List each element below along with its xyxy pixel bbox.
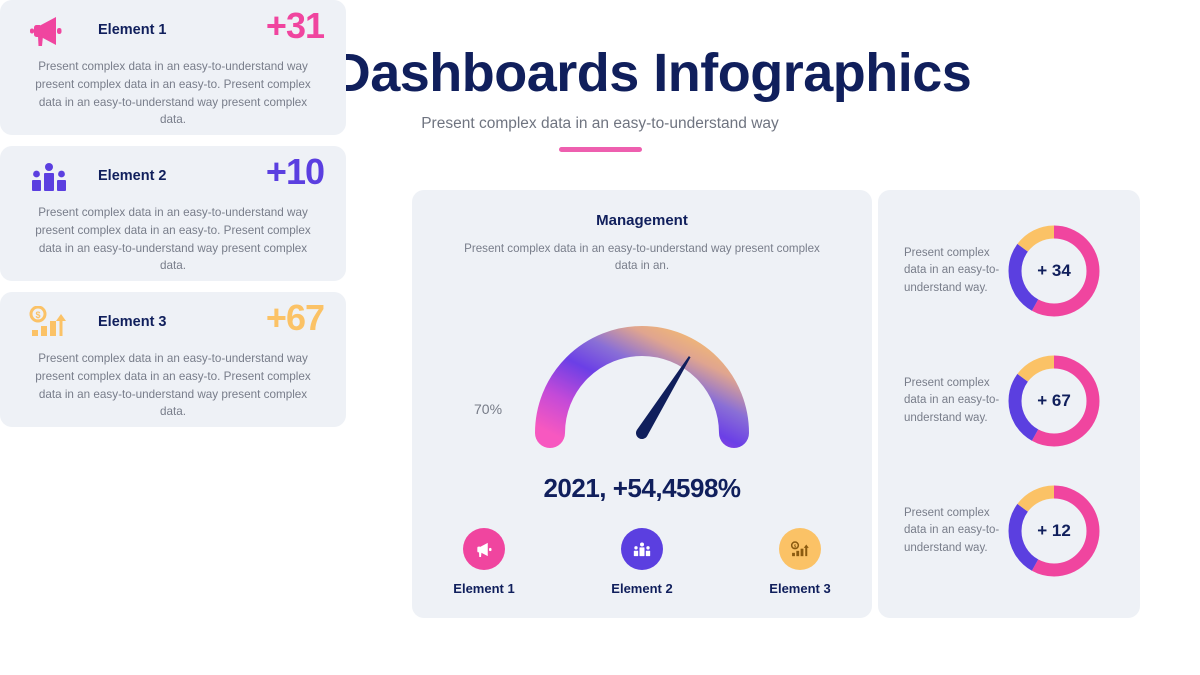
donut-value: + 34 bbox=[1006, 223, 1102, 319]
donut-description: Present complex data in an easy-to-under… bbox=[878, 505, 1000, 557]
donut-row-2[interactable]: Present complex data in an easy-to-under… bbox=[878, 336, 1140, 466]
kpi-card-list: Element 1 +31 Present complex data in an… bbox=[0, 0, 346, 428]
panel-title: Management bbox=[412, 212, 872, 229]
donut-chart-3: + 12 bbox=[1006, 483, 1102, 579]
kpi-card-label: Element 1 bbox=[98, 22, 167, 38]
legend-label: Element 3 bbox=[752, 581, 848, 596]
gauge-arc bbox=[550, 341, 734, 433]
kpi-card-value: +10 bbox=[266, 151, 324, 193]
kpi-card-body: Present complex data in an easy-to-under… bbox=[0, 58, 346, 129]
kpi-card-header: $ Element 3 +67 bbox=[0, 292, 346, 350]
growth-chart-icon: $ bbox=[28, 306, 70, 340]
legend-item-element-3[interactable]: $ Element 3 bbox=[752, 528, 848, 596]
donut-row-1[interactable]: Present complex data in an easy-to-under… bbox=[878, 206, 1140, 336]
kpi-card-element-1[interactable]: Element 1 +31 Present complex data in an… bbox=[0, 0, 346, 135]
gauge-chart: 70% bbox=[412, 281, 872, 471]
legend-label: Element 1 bbox=[436, 581, 532, 596]
donut-panel: Present complex data in an easy-to-under… bbox=[878, 190, 1140, 618]
donut-description: Present complex data in an easy-to-under… bbox=[878, 375, 1000, 427]
management-panel: Management Present complex data in an ea… bbox=[412, 190, 872, 618]
kpi-card-header: Element 1 +31 bbox=[0, 0, 346, 58]
podium-people-icon bbox=[28, 160, 70, 194]
donut-row-3[interactable]: Present complex data in an easy-to-under… bbox=[878, 466, 1140, 596]
megaphone-icon bbox=[463, 528, 505, 570]
svg-text:$: $ bbox=[35, 310, 40, 320]
gauge-min-label: 70% bbox=[474, 401, 502, 417]
donut-chart-1: + 34 bbox=[1006, 223, 1102, 319]
donut-value: + 12 bbox=[1006, 483, 1102, 579]
kpi-card-value: +31 bbox=[266, 5, 324, 47]
kpi-card-header: Element 2 +10 bbox=[0, 146, 346, 204]
kpi-card-label: Element 3 bbox=[98, 314, 167, 330]
legend-label: Element 2 bbox=[594, 581, 690, 596]
donut-chart-2: + 67 bbox=[1006, 353, 1102, 449]
donut-description: Present complex data in an easy-to-under… bbox=[878, 245, 1000, 297]
gauge-value-label: 2021, +54,4598% bbox=[412, 473, 872, 504]
legend-item-element-1[interactable]: Element 1 bbox=[436, 528, 532, 596]
kpi-card-body: Present complex data in an easy-to-under… bbox=[0, 204, 346, 275]
megaphone-icon bbox=[28, 14, 70, 48]
kpi-card-element-2[interactable]: Element 2 +10 Present complex data in an… bbox=[0, 146, 346, 281]
kpi-card-label: Element 2 bbox=[98, 168, 167, 184]
podium-people-icon bbox=[621, 528, 663, 570]
donut-value: + 67 bbox=[1006, 353, 1102, 449]
kpi-card-element-3[interactable]: $ Element 3 +67 Present complex data in … bbox=[0, 292, 346, 427]
panel-subtitle: Present complex data in an easy-to-under… bbox=[412, 240, 872, 275]
kpi-card-body: Present complex data in an easy-to-under… bbox=[0, 350, 346, 421]
infographic-slide: KPI Dashboards Infographics Present comp… bbox=[0, 0, 1200, 675]
gauge-legend: Element 1 Element 2 bbox=[412, 528, 872, 596]
growth-chart-icon: $ bbox=[779, 528, 821, 570]
kpi-card-value: +67 bbox=[266, 297, 324, 339]
legend-item-element-2[interactable]: Element 2 bbox=[594, 528, 690, 596]
accent-divider bbox=[559, 147, 642, 152]
